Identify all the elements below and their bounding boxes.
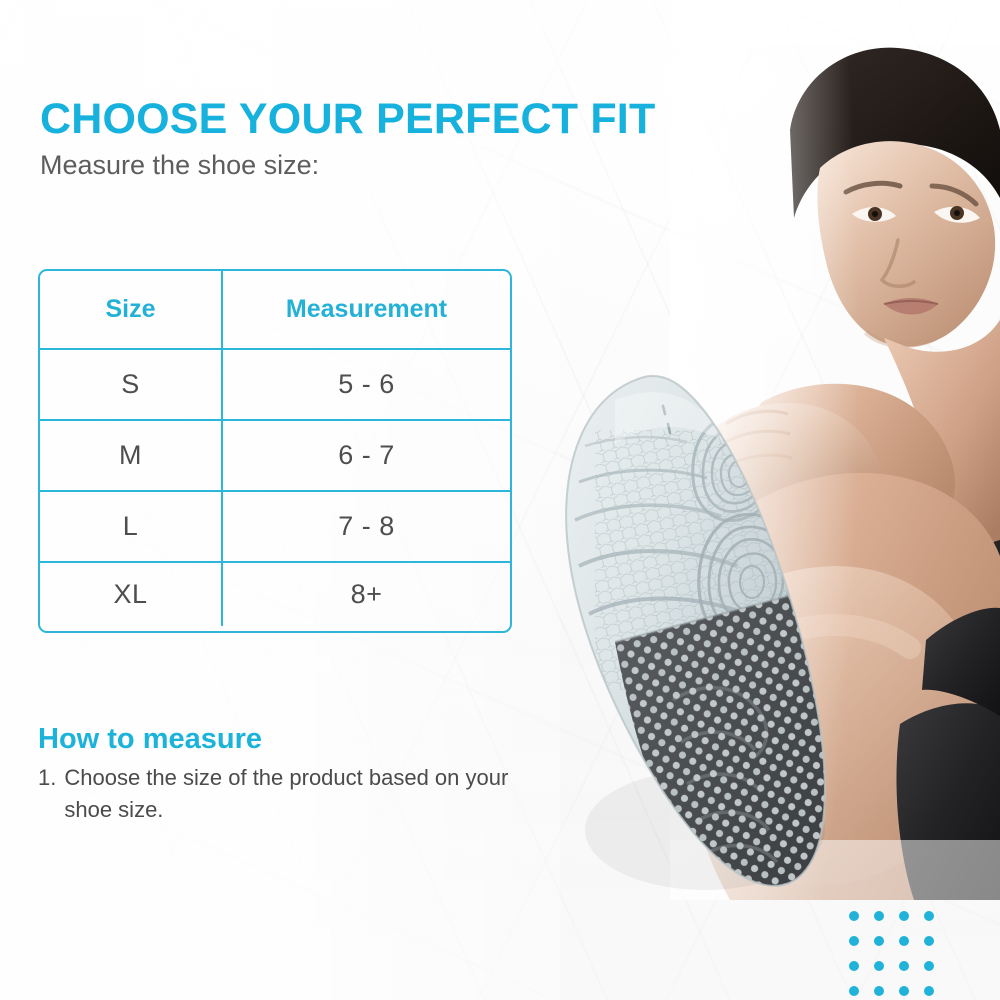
cell-measurement: 7 - 8 — [223, 492, 510, 561]
dot-icon — [849, 911, 859, 921]
table-row: S 5 - 6 — [40, 350, 510, 421]
dot-grid-decoration — [849, 911, 949, 1000]
step-text: Choose the size of the product based on … — [64, 762, 558, 826]
dot-icon — [899, 936, 909, 946]
how-to-measure-heading: How to measure — [38, 723, 262, 756]
dot-icon — [924, 911, 934, 921]
dot-icon — [899, 911, 909, 921]
cell-size: M — [40, 421, 223, 490]
dot-icon — [924, 986, 934, 996]
dot-icon — [849, 961, 859, 971]
dot-icon — [874, 936, 884, 946]
page-title: CHOOSE YOUR PERFECT FIT — [40, 95, 655, 144]
step-number: 1. — [38, 762, 56, 826]
dot-icon — [899, 961, 909, 971]
how-to-measure-steps: 1. Choose the size of the product based … — [38, 762, 558, 826]
cell-measurement: 8+ — [223, 563, 510, 626]
cell-measurement: 6 - 7 — [223, 421, 510, 490]
table-row: L 7 - 8 — [40, 492, 510, 563]
cell-measurement: 5 - 6 — [223, 350, 510, 419]
table-row: XL 8+ — [40, 563, 510, 626]
size-chart-table: Size Measurement S 5 - 6 M 6 - 7 L 7 - 8… — [38, 269, 512, 633]
dot-icon — [874, 911, 884, 921]
dot-icon — [874, 986, 884, 996]
column-header-size: Size — [40, 271, 223, 348]
dot-icon — [849, 986, 859, 996]
insole-product-image — [555, 370, 835, 890]
list-item: 1. Choose the size of the product based … — [38, 762, 558, 826]
page-subtitle: Measure the shoe size: — [40, 150, 319, 181]
table-header-row: Size Measurement — [40, 271, 510, 350]
dot-icon — [899, 986, 909, 996]
table-row: M 6 - 7 — [40, 421, 510, 492]
cell-size: S — [40, 350, 223, 419]
column-header-measurement: Measurement — [223, 271, 510, 348]
cell-size: L — [40, 492, 223, 561]
dot-icon — [874, 961, 884, 971]
cell-size: XL — [40, 563, 223, 626]
dot-icon — [924, 961, 934, 971]
dot-icon — [924, 936, 934, 946]
dot-icon — [849, 936, 859, 946]
size-guide-page: CHOOSE YOUR PERFECT FIT Measure the shoe… — [0, 0, 1000, 1000]
